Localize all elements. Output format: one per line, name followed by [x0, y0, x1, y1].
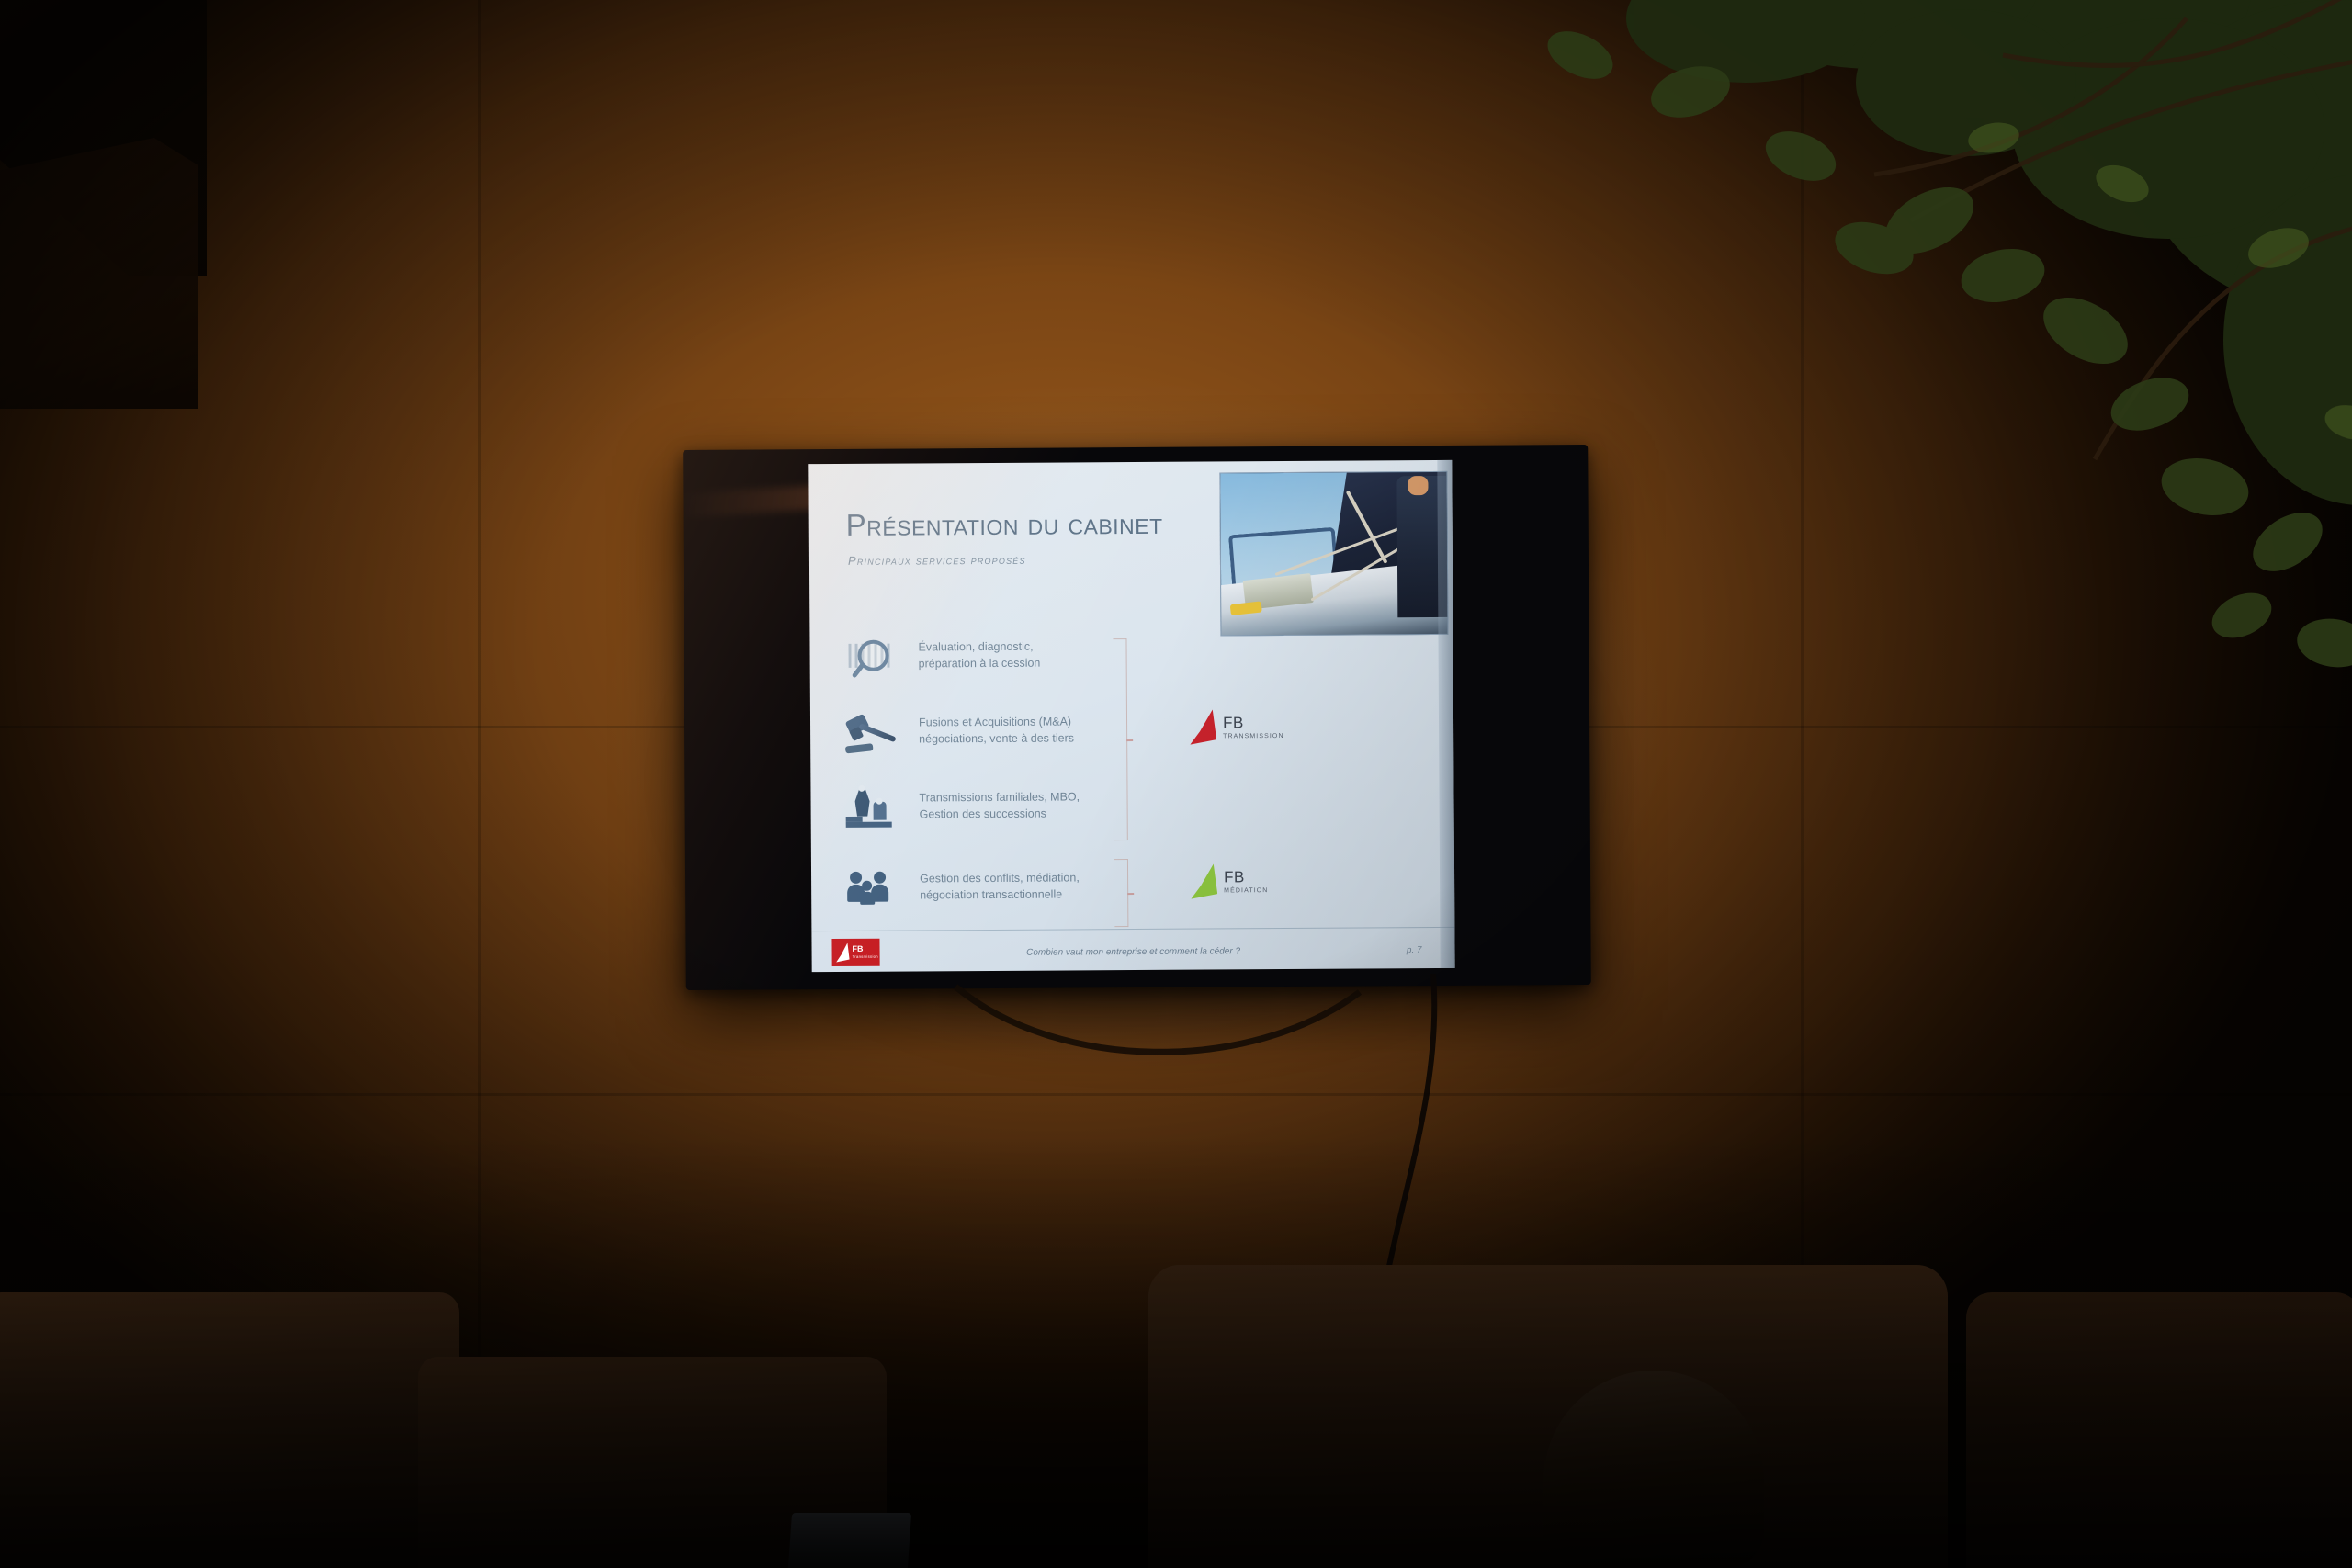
- service-row: Fusions et Acquisitions (M&A) négociatio…: [845, 709, 1213, 711]
- room-scene: Présentation du cabinet Principaux servi…: [0, 0, 2352, 1568]
- service-line-2: négociation transactionnelle: [920, 886, 1080, 904]
- service-row: Évaluation, diagnostic, préparation à la…: [844, 634, 1212, 636]
- wall-seam: [1801, 0, 1804, 1568]
- wall-seam: [478, 0, 481, 1568]
- service-line-1: Évaluation, diagnostic,: [918, 639, 1040, 657]
- slide-right-edge: [1437, 460, 1454, 968]
- logo-name: FB: [1224, 869, 1268, 885]
- wall-mounted-tv[interactable]: Présentation du cabinet Principaux servi…: [683, 445, 1591, 990]
- service-line-1: Gestion des conflits, médiation,: [920, 870, 1080, 887]
- logo-fb-mediation: FB MÉDIATION: [1190, 863, 1269, 899]
- photo-hand: [1408, 476, 1429, 495]
- service-line-1: Transmissions familiales, MBO,: [919, 789, 1080, 807]
- logo-tagline: MÉDIATION: [1224, 887, 1268, 894]
- footer-page-number: p. 7: [1407, 945, 1422, 955]
- chair-far-right: [1966, 1292, 2352, 1568]
- footer-divider: [811, 927, 1454, 931]
- service-line-1: Fusions et Acquisitions (M&A): [919, 714, 1074, 731]
- audience-head: [1543, 1371, 1764, 1568]
- magnifier-icon: [844, 637, 896, 684]
- service-row: Gestion des conflits, médiation, négocia…: [846, 865, 1214, 867]
- foreground-shadow: [0, 1136, 2352, 1568]
- service-text: Gestion des conflits, médiation, négocia…: [920, 870, 1080, 904]
- service-text: Fusions et Acquisitions (M&A) négociatio…: [919, 714, 1074, 748]
- bracket-transmission: [1113, 638, 1127, 840]
- slide-subtitle: Principaux services proposés: [848, 553, 1026, 568]
- foreground-furniture: [0, 1054, 2352, 1568]
- service-row: Transmissions familiales, MBO, Gestion d…: [845, 784, 1213, 786]
- bracket-mediation: [1114, 859, 1128, 927]
- service-line-2: Gestion des successions: [920, 806, 1080, 823]
- succession-icon: [845, 787, 897, 835]
- slide-title: Présentation du cabinet: [846, 506, 1163, 543]
- laptop: [788, 1513, 911, 1568]
- gavel-icon: [845, 712, 897, 760]
- sail-icon: [1189, 709, 1216, 744]
- wall-fixture-shadow: [0, 138, 198, 409]
- service-line-2: préparation à la cession: [919, 655, 1041, 672]
- chair-mid: [418, 1357, 887, 1568]
- service-text: Transmissions familiales, MBO, Gestion d…: [919, 789, 1080, 823]
- chair-right: [1148, 1265, 1948, 1568]
- people-icon: [846, 868, 898, 916]
- logo-name: FB: [1223, 715, 1284, 730]
- presentation-slide[interactable]: Présentation du cabinet Principaux servi…: [808, 460, 1454, 972]
- sail-icon: [1190, 863, 1217, 898]
- sailing-photo: [1219, 471, 1448, 637]
- logo-tagline: TRANSMISSION: [1223, 733, 1284, 739]
- wall-seam: [0, 1093, 2352, 1096]
- logo-fb-transmission: FB TRANSMISSION: [1189, 709, 1284, 745]
- service-text: Évaluation, diagnostic, préparation à la…: [918, 639, 1040, 672]
- service-line-2: négociations, vente à des tiers: [919, 730, 1074, 748]
- footer-title: Combien vaut mon entreprise et comment l…: [812, 945, 1455, 959]
- chair-left: [0, 1292, 459, 1568]
